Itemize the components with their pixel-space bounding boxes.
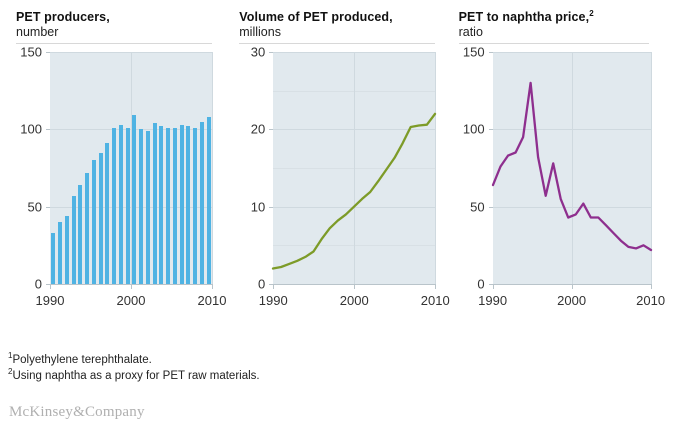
bar: [173, 128, 177, 284]
bar: [51, 233, 55, 284]
y-tick-label: 0: [35, 277, 42, 292]
x-tick-label: 2000: [117, 293, 146, 308]
x-tick-label: 2000: [340, 293, 369, 308]
bar: [65, 216, 69, 284]
y-tick-label: 30: [251, 45, 265, 60]
panel-pet-producers: PET producers, number 050100150 19902000…: [8, 10, 235, 314]
x-tick-label: 2010: [421, 293, 450, 308]
bar: [119, 125, 123, 284]
x-tick-mark: [354, 284, 355, 289]
gridline-vertical: [435, 52, 436, 284]
bar: [132, 115, 136, 284]
bar: [112, 128, 116, 284]
y-tick-label: 10: [251, 200, 265, 215]
y-tick-label: 150: [463, 45, 485, 60]
panel-title-text: PET to naphtha price,: [459, 10, 590, 24]
panel-subtitle: millions: [239, 25, 435, 44]
panel-pet-to-naphtha: PET to naphtha price,2 ratio 050100150 1…: [455, 10, 667, 314]
y-tick-label: 150: [20, 45, 42, 60]
y-tick-label: 0: [258, 277, 265, 292]
y-axis-labels: 050100150: [16, 52, 46, 292]
bar: [92, 160, 96, 284]
exhibit-container: PET producers, number 050100150 19902000…: [0, 0, 675, 447]
plot-canvas: [493, 52, 651, 284]
x-tick-mark: [493, 284, 494, 289]
y-tick-label: 20: [251, 122, 265, 137]
y-tick-label: 50: [28, 200, 42, 215]
x-tick-label: 1990: [36, 293, 65, 308]
plot-canvas: [273, 52, 435, 284]
footnote: 2Using naphtha as a proxy for PET raw ma…: [8, 368, 260, 384]
plot-area-ratio: 050100150 199020002010: [459, 52, 659, 314]
x-tick-label: 2010: [636, 293, 665, 308]
bar: [186, 126, 190, 284]
panel-subtitle: number: [16, 25, 212, 44]
title-footnote-marker: 2: [589, 9, 594, 18]
bar: [58, 222, 62, 284]
x-tick-mark: [212, 284, 213, 289]
x-tick-mark: [273, 284, 274, 289]
x-tick-label: 2010: [198, 293, 227, 308]
volume-line-series: [273, 52, 435, 284]
ratio-line-series: [493, 52, 651, 284]
mckinsey-logo: McKinsey&Company: [9, 404, 145, 421]
x-tick-mark: [651, 284, 652, 289]
y-tick-label: 100: [463, 122, 485, 137]
x-tick-label: 1990: [259, 293, 288, 308]
x-tick-label: 2000: [557, 293, 586, 308]
bar: [193, 128, 197, 284]
footnote-text: Using naphtha as a proxy for PET raw mat…: [12, 370, 259, 382]
panel-title: PET producers,: [16, 10, 235, 25]
x-tick-mark: [50, 284, 51, 289]
bar: [78, 185, 82, 284]
bar: [105, 143, 109, 284]
x-tick-mark: [435, 284, 436, 289]
y-tick-label: 100: [20, 122, 42, 137]
bar: [139, 129, 143, 284]
chart-panels: PET producers, number 050100150 19902000…: [8, 10, 667, 314]
bar: [85, 173, 89, 284]
footnote-text: Polyethylene terephthalate.: [12, 354, 151, 366]
bar: [200, 122, 204, 284]
footnote: 1Polyethylene terephthalate.: [8, 352, 260, 368]
bar: [126, 128, 130, 284]
panel-subtitle: ratio: [459, 25, 649, 44]
gridline-vertical: [212, 52, 213, 284]
bar: [180, 125, 184, 284]
y-tick-label: 0: [477, 277, 484, 292]
bar: [153, 123, 157, 284]
plot-canvas: [50, 52, 212, 284]
bar: [159, 126, 163, 284]
plot-area-producers: 050100150 199020002010: [16, 52, 221, 314]
bar: [207, 117, 211, 284]
footnotes: 1Polyethylene terephthalate.2Using napht…: [8, 352, 260, 384]
bar: [72, 196, 76, 284]
y-tick-label: 50: [470, 200, 484, 215]
plot-area-volume: 0102030 199020002010: [239, 52, 444, 314]
y-axis-labels: 0102030: [239, 52, 269, 292]
panel-volume-of-pet: Volume of PET produced, millions 0102030…: [235, 10, 454, 314]
x-tick-mark: [131, 284, 132, 289]
y-axis-labels: 050100150: [459, 52, 489, 292]
panel-title: Volume of PET produced,: [239, 10, 454, 25]
bar: [146, 131, 150, 284]
bar: [166, 128, 170, 284]
bar: [99, 153, 103, 284]
x-tick-label: 1990: [478, 293, 507, 308]
panel-title: PET to naphtha price,2: [459, 10, 667, 25]
x-tick-mark: [572, 284, 573, 289]
